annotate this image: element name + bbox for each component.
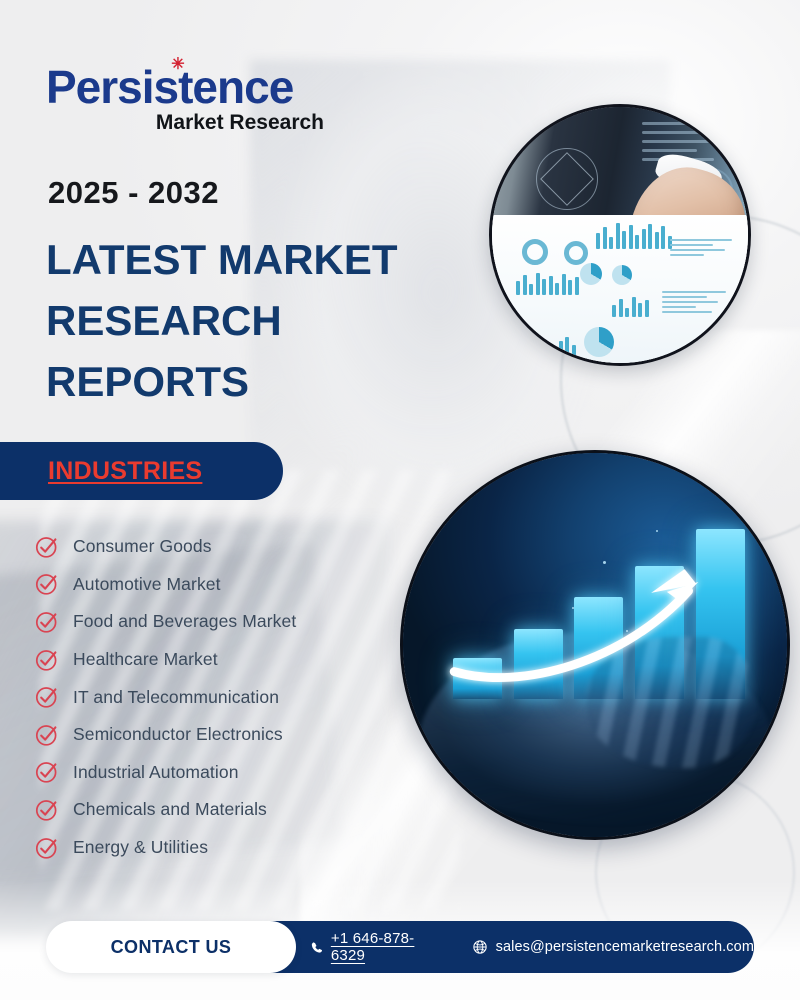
photo-donut-chart-1: [522, 239, 548, 265]
contact-bar: +1 646-878-6329 sales@persistencemarketr…: [46, 921, 754, 973]
photo-paper-lines-1: [670, 239, 732, 259]
check-circle-icon: [34, 835, 60, 861]
growth-chart-photo: [403, 453, 787, 837]
industry-label: Energy & Utilities: [73, 837, 208, 858]
industries-list: Consumer GoodsAutomotive MarketFood and …: [34, 528, 454, 866]
globe-icon: [472, 939, 488, 955]
industry-list-item[interactable]: Consumer Goods: [34, 528, 454, 566]
industry-label: IT and Telecommunication: [73, 687, 279, 708]
photo-growth-arrow-icon: [403, 453, 787, 837]
photo-donut-chart-2: [564, 241, 588, 265]
industries-banner-label: INDUSTRIES: [48, 457, 202, 486]
industry-label: Food and Beverages Market: [73, 611, 296, 632]
industry-label: Semiconductor Electronics: [73, 724, 283, 745]
contact-details-panel: +1 646-878-6329 sales@persistencemarketr…: [226, 921, 754, 973]
industry-list-item[interactable]: IT and Telecommunication: [34, 678, 454, 716]
industry-list-item[interactable]: Chemicals and Materials: [34, 791, 454, 829]
logo-wordmark: Persistence ✳: [46, 64, 293, 110]
industry-list-item[interactable]: Energy & Utilities: [34, 829, 454, 867]
check-circle-icon: [34, 609, 60, 635]
check-circle-icon: [34, 797, 60, 823]
photo-pie-chart-2: [612, 265, 632, 285]
contact-us-button[interactable]: CONTACT US: [46, 921, 296, 973]
contact-phone-label: +1 646-878-6329: [331, 930, 440, 964]
industry-list-item[interactable]: Food and Beverages Market: [34, 603, 454, 641]
industry-label: Healthcare Market: [73, 649, 218, 670]
photo-bar-chart-3: [612, 297, 649, 317]
industry-list-item[interactable]: Healthcare Market: [34, 641, 454, 679]
photo-bar-chart-4: [552, 337, 576, 357]
analytics-photo: [492, 107, 748, 363]
photo-diamond-overlay-icon: [536, 148, 598, 210]
poster-canvas: Persistence ✳ Market Research 2025 - 203…: [0, 0, 800, 1000]
growth-chart-photo-circle: [400, 450, 790, 840]
photo-pie-chart-1: [580, 263, 602, 285]
page-title: LATEST MARKET RESEARCH REPORTS: [46, 230, 446, 413]
industry-list-item[interactable]: Semiconductor Electronics: [34, 716, 454, 754]
forecast-years: 2025 - 2032: [48, 175, 219, 211]
check-circle-icon: [34, 571, 60, 597]
contact-phone[interactable]: +1 646-878-6329: [310, 930, 440, 964]
photo-report-papers: [492, 215, 748, 363]
check-circle-icon: [34, 684, 60, 710]
industry-label: Consumer Goods: [73, 536, 212, 557]
check-circle-icon: [34, 759, 60, 785]
industry-label: Industrial Automation: [73, 762, 239, 783]
photo-pie-chart-3: [584, 327, 614, 357]
contact-email[interactable]: sales@persistencemarketresearch.com: [472, 939, 754, 955]
brand-logo: Persistence ✳ Market Research: [46, 64, 346, 133]
industry-list-item[interactable]: Industrial Automation: [34, 754, 454, 792]
check-circle-icon: [34, 647, 60, 673]
industry-list-item[interactable]: Automotive Market: [34, 566, 454, 604]
photo-paper-lines-2: [662, 291, 732, 316]
analytics-photo-circle: [489, 104, 751, 366]
contact-email-label: sales@persistencemarketresearch.com: [496, 939, 754, 955]
check-circle-icon: [34, 534, 60, 560]
photo-bar-chart-1: [596, 223, 672, 249]
red-asterisk-star-icon: ✳: [171, 58, 184, 71]
logo-wordmark-text: Persistence: [46, 61, 293, 113]
phone-handset-icon: [310, 940, 324, 955]
check-circle-icon: [34, 722, 60, 748]
photo-bar-chart-2: [516, 273, 579, 295]
industries-banner: INDUSTRIES: [0, 442, 283, 500]
industry-label: Chemicals and Materials: [73, 799, 267, 820]
industry-label: Automotive Market: [73, 574, 221, 595]
contact-us-label: CONTACT US: [111, 937, 232, 958]
logo-tagline: Market Research: [46, 112, 324, 133]
